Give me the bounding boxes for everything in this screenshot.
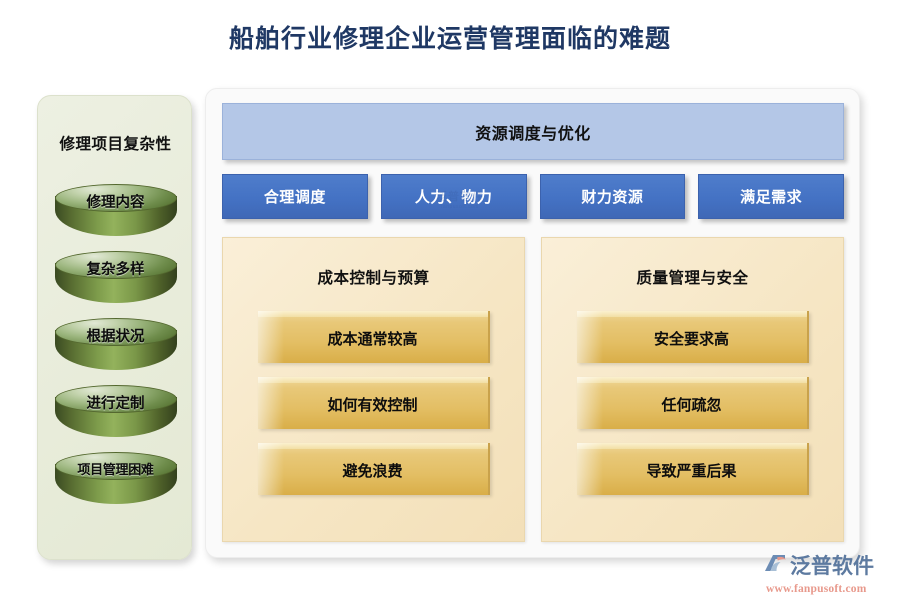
gold-chip-label: 避免浪费 — [258, 443, 488, 495]
sidebar-item-label: 复杂多样 — [55, 258, 177, 279]
sidebar-item-project-management-difficulty[interactable]: 项目管理困难 — [55, 452, 177, 509]
sidebar-item-label: 修理内容 — [55, 191, 177, 212]
sidebar-panel: 修理项目复杂性 修理内容 复杂多样 根据状况 进行定制 — [37, 95, 192, 560]
blue-chip-meet-demand[interactable]: 满足需求 — [698, 174, 844, 219]
gold-panel-item-list: 成本通常较高 如何有效控制 避免浪费 — [223, 311, 524, 509]
gold-chip-how-to-control-effectively[interactable]: 如何有效控制 — [258, 377, 490, 429]
brand-logo[interactable]: 泛普软件 www.fanpusoft.com — [762, 551, 894, 595]
fanpu-swoosh-icon — [762, 551, 788, 582]
gold-chip-label: 任何疏忽 — [577, 377, 807, 429]
gold-panel-cost-control: 成本控制与预算 成本通常较高 如何有效控制 避免浪费 — [222, 237, 525, 542]
logo-url-text: www.fanpusoft.com — [766, 583, 894, 595]
blue-chip-row: 合理调度 人力、物力 财力资源 满足需求 — [222, 174, 844, 219]
gold-chip-cost-usually-high[interactable]: 成本通常较高 — [258, 311, 490, 363]
page-title: 船舶行业修理企业运营管理面临的难题 — [0, 22, 900, 56]
resource-header-banner: 资源调度与优化 — [222, 103, 844, 160]
gold-chip-any-negligence[interactable]: 任何疏忽 — [577, 377, 809, 429]
gold-panel-title: 成本控制与预算 — [223, 266, 524, 288]
gold-panel-item-list: 安全要求高 任何疏忽 导致严重后果 — [542, 311, 843, 509]
blue-chip-manpower-material[interactable]: 人力、物力 — [381, 174, 527, 219]
gold-chip-avoid-waste[interactable]: 避免浪费 — [258, 443, 490, 495]
gold-chip-high-safety-requirements[interactable]: 安全要求高 — [577, 311, 809, 363]
sidebar-item-repair-content[interactable]: 修理内容 — [55, 184, 177, 241]
main-panel: 资源调度与优化 合理调度 人力、物力 财力资源 满足需求 成本控制与预算 成本通… — [205, 88, 860, 558]
blue-chip-reasonable-scheduling[interactable]: 合理调度 — [222, 174, 368, 219]
blue-chip-financial-resources[interactable]: 财力资源 — [540, 174, 686, 219]
logo-brand-name: 泛普软件 — [790, 555, 874, 579]
sidebar-cylinder-list: 修理内容 复杂多样 根据状况 进行定制 项目管理困难 — [38, 184, 193, 519]
gold-panel-quality-safety: 质量管理与安全 安全要求高 任何疏忽 导致严重后果 — [541, 237, 844, 542]
gold-panel-title: 质量管理与安全 — [542, 266, 843, 288]
sidebar-item-label: 根据状况 — [55, 325, 177, 346]
sidebar-title: 修理项目复杂性 — [38, 132, 193, 154]
logo-row: 泛普软件 — [762, 551, 894, 582]
gold-chip-serious-consequences[interactable]: 导致严重后果 — [577, 443, 809, 495]
sidebar-item-label: 进行定制 — [55, 392, 177, 413]
resource-header-label: 资源调度与优化 — [475, 120, 591, 144]
gold-chip-label: 安全要求高 — [577, 311, 807, 363]
sidebar-item-label: 项目管理困难 — [55, 459, 177, 478]
gold-chip-label: 如何有效控制 — [258, 377, 488, 429]
gold-panel-row: 成本控制与预算 成本通常较高 如何有效控制 避免浪费 质量管理与安全 安全要求高 — [222, 237, 844, 542]
sidebar-item-customization[interactable]: 进行定制 — [55, 385, 177, 442]
sidebar-item-based-on-condition[interactable]: 根据状况 — [55, 318, 177, 375]
gold-chip-label: 成本通常较高 — [258, 311, 488, 363]
gold-chip-label: 导致严重后果 — [577, 443, 807, 495]
sidebar-item-complex-diverse[interactable]: 复杂多样 — [55, 251, 177, 308]
